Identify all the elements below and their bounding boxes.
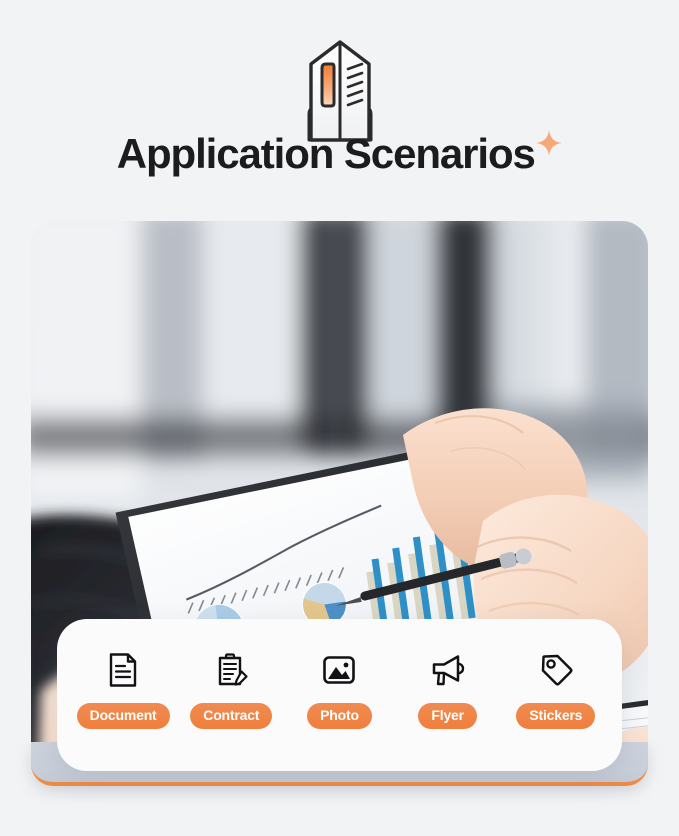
page-header: Application Scenarios <box>0 0 679 218</box>
scenario-chip-contract[interactable]: Contract <box>179 650 283 729</box>
document-icon <box>103 650 143 690</box>
scenario-chip-label: Contract <box>190 703 272 729</box>
page-title: Application Scenarios <box>117 128 535 180</box>
scenario-chip-label: Flyer <box>418 703 476 729</box>
flyer-icon <box>428 650 468 690</box>
scenario-chip-label: Photo <box>307 703 372 729</box>
sparkle-icon <box>536 130 562 156</box>
scenario-chip-stickers[interactable]: Stickers <box>504 650 608 729</box>
contract-icon <box>211 650 251 690</box>
scenario-chip-photo[interactable]: Photo <box>287 650 391 729</box>
scenario-chip-panel: Document Contract Photo <box>57 619 622 771</box>
photo-icon <box>319 650 359 690</box>
scenario-chip-flyer[interactable]: Flyer <box>396 650 500 729</box>
page-title-row: Application Scenarios <box>0 128 679 180</box>
scenario-chip-label: Document <box>77 703 170 729</box>
stickers-icon <box>536 650 576 690</box>
scenario-chip-label: Stickers <box>516 703 595 729</box>
scenario-chip-document[interactable]: Document <box>71 650 175 729</box>
